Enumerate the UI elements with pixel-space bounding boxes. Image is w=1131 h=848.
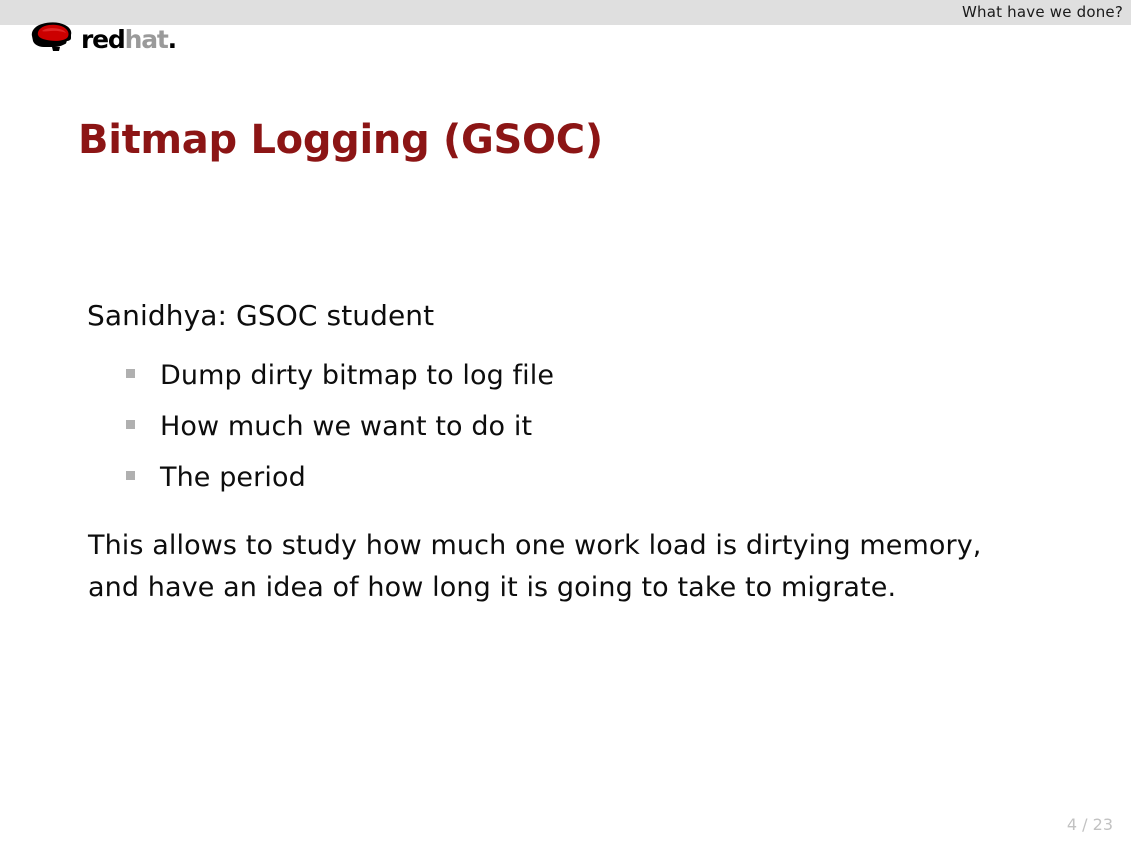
- redhat-wordmark: redhat.: [81, 27, 176, 52]
- list-item-label: Dump dirty bitmap to log file: [160, 360, 554, 391]
- square-bullet-icon: [126, 420, 135, 429]
- square-bullet-icon: [126, 369, 135, 378]
- wordmark-red: red: [81, 25, 125, 54]
- closing-paragraph: This allows to study how much one work l…: [88, 525, 1038, 609]
- redhat-logo: redhat.: [26, 17, 176, 57]
- list-item: Dump dirty bitmap to log file: [126, 360, 554, 411]
- list-item-label: How much we want to do it: [160, 411, 532, 442]
- list-item: How much we want to do it: [126, 411, 554, 462]
- list-item-label: The period: [160, 462, 306, 493]
- wordmark-dot: .: [168, 25, 176, 54]
- wordmark-hat: hat: [125, 25, 168, 54]
- list-item: The period: [126, 462, 554, 513]
- slide-title: Bitmap Logging (GSOC): [78, 117, 603, 163]
- bullet-list: Dump dirty bitmap to log file How much w…: [126, 360, 554, 513]
- page-number: 4 / 23: [1067, 815, 1113, 834]
- intro-text: Sanidhya: GSOC student: [87, 299, 434, 332]
- square-bullet-icon: [126, 471, 135, 480]
- section-title: What have we done?: [962, 3, 1123, 21]
- paragraph-line: and have an idea of how long it is going…: [88, 567, 1038, 609]
- paragraph-line: This allows to study how much one work l…: [88, 525, 1038, 567]
- redhat-shadowman-icon: [26, 19, 80, 55]
